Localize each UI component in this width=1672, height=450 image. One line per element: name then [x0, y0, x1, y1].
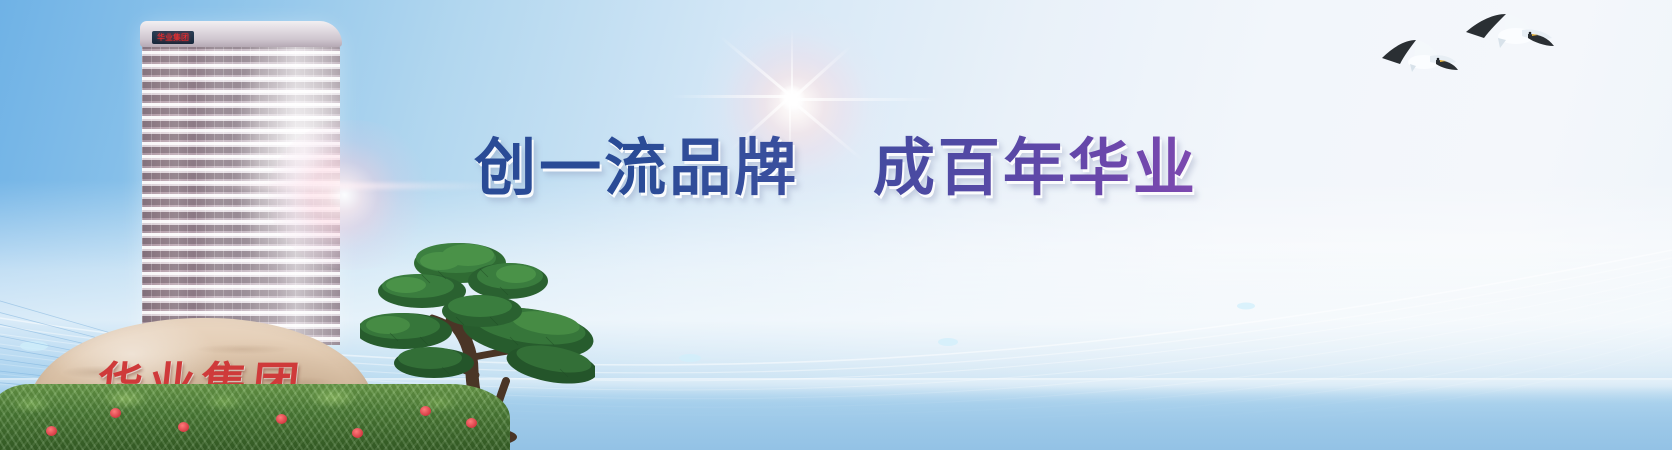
red-flower-icon — [110, 408, 121, 418]
red-flower-icon — [276, 414, 287, 424]
red-flower-icon — [466, 418, 477, 428]
hedge-shrubs — [0, 384, 510, 450]
sun-ray — [791, 98, 941, 101]
seagull-icon — [1382, 40, 1458, 72]
red-flower-icon — [352, 428, 363, 438]
building-rooftop-sign: 华业集团 — [152, 31, 194, 44]
company-hero-banner: 华业集团 — [0, 0, 1672, 450]
hedge-texture — [0, 384, 510, 450]
sun-ray — [671, 95, 791, 98]
slogan-text: 创一流品牌 成百年华业 — [0, 131, 1672, 205]
red-flower-icon — [178, 422, 189, 432]
seagull-icon — [1466, 14, 1554, 48]
seagulls-group — [1370, 6, 1570, 116]
sun-core — [779, 85, 805, 111]
red-flower-icon — [420, 406, 431, 416]
red-flower-icon — [46, 426, 57, 436]
